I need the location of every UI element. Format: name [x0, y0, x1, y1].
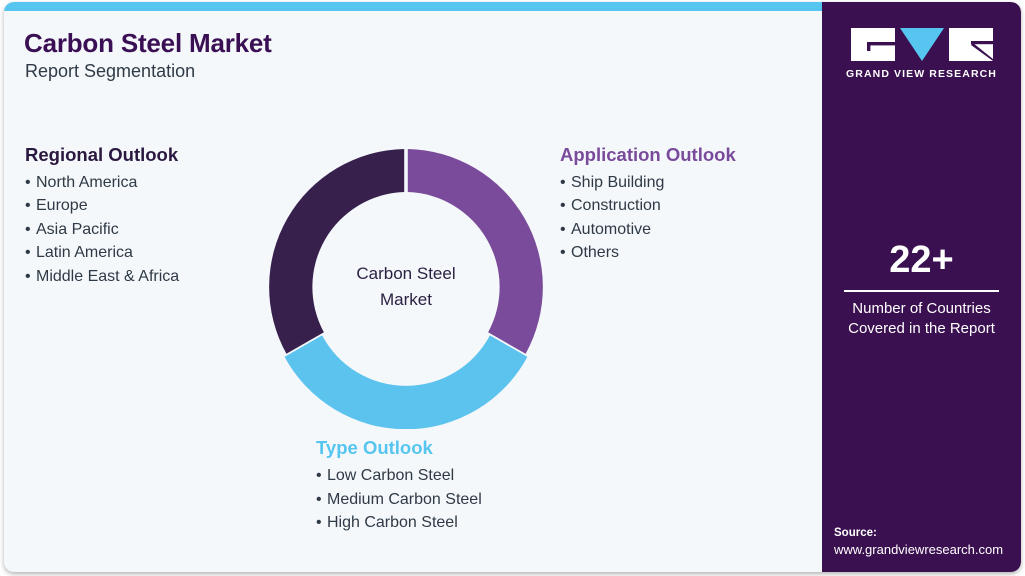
brand-logo: GRAND VIEW RESEARCH [822, 28, 1021, 80]
list-item: Europe [25, 194, 179, 217]
segmentation-donut-chart: Carbon Steel Market [264, 145, 548, 429]
infographic-root: Carbon Steel Market Report Segmentation … [0, 0, 1025, 576]
regional-outlook-heading: Regional Outlook [25, 144, 179, 166]
logo-marks [851, 28, 993, 61]
list-item: Low Carbon Steel [316, 464, 482, 488]
list-item: Others [560, 241, 736, 264]
logo-caption: GRAND VIEW RESEARCH [846, 68, 997, 80]
list-item: Middle East & Africa [25, 265, 179, 288]
application-outlook-heading: Application Outlook [560, 144, 736, 166]
list-item: Medium Carbon Steel [316, 488, 482, 512]
logo-v-icon [900, 28, 944, 61]
stat-label-line1: Number of Countries [822, 299, 1021, 319]
list-item: Ship Building [560, 171, 736, 194]
donut-segment-application [408, 149, 543, 354]
type-outlook-heading: Type Outlook [316, 437, 482, 459]
stat-label-line2: Covered in the Report [822, 319, 1021, 339]
type-outlook-block: Type Outlook Low Carbon Steel Medium Car… [316, 437, 482, 535]
donut-svg [264, 145, 548, 429]
top-accent-bar [4, 2, 822, 11]
regional-outlook-list: North America Europe Asia Pacific Latin … [25, 171, 179, 288]
list-item: Construction [560, 194, 736, 217]
source-block: Source: www.grandviewresearch.com [834, 525, 1021, 559]
main-content-area: Carbon Steel Market Report Segmentation … [4, 11, 822, 572]
list-item: Latin America [25, 241, 179, 264]
stat-number: 22+ [822, 238, 1021, 282]
page-title: Carbon Steel Market [24, 28, 272, 59]
donut-segment-regional [269, 149, 404, 354]
application-outlook-list: Ship Building Construction Automotive Ot… [560, 171, 736, 265]
list-item: High Carbon Steel [316, 511, 482, 535]
report-card: Carbon Steel Market Report Segmentation … [4, 2, 1021, 572]
list-item: Automotive [560, 218, 736, 241]
donut-segment-type [285, 335, 528, 429]
brand-sidebar: GRAND VIEW RESEARCH 22+ Number of Countr… [822, 2, 1021, 572]
logo-r-icon [949, 28, 993, 61]
stat-block: 22+ Number of Countries Covered in the R… [822, 238, 1021, 339]
application-outlook-block: Application Outlook Ship Building Constr… [560, 144, 736, 265]
list-item: Asia Pacific [25, 218, 179, 241]
page-subtitle: Report Segmentation [25, 61, 195, 82]
logo-g-icon [851, 28, 895, 61]
type-outlook-list: Low Carbon Steel Medium Carbon Steel Hig… [316, 464, 482, 535]
regional-outlook-block: Regional Outlook North America Europe As… [25, 144, 179, 288]
stat-divider [844, 290, 999, 292]
list-item: North America [25, 171, 179, 194]
source-url[interactable]: www.grandviewresearch.com [834, 541, 1021, 559]
source-title: Source: [834, 525, 1021, 541]
stat-label: Number of Countries Covered in the Repor… [822, 299, 1021, 339]
